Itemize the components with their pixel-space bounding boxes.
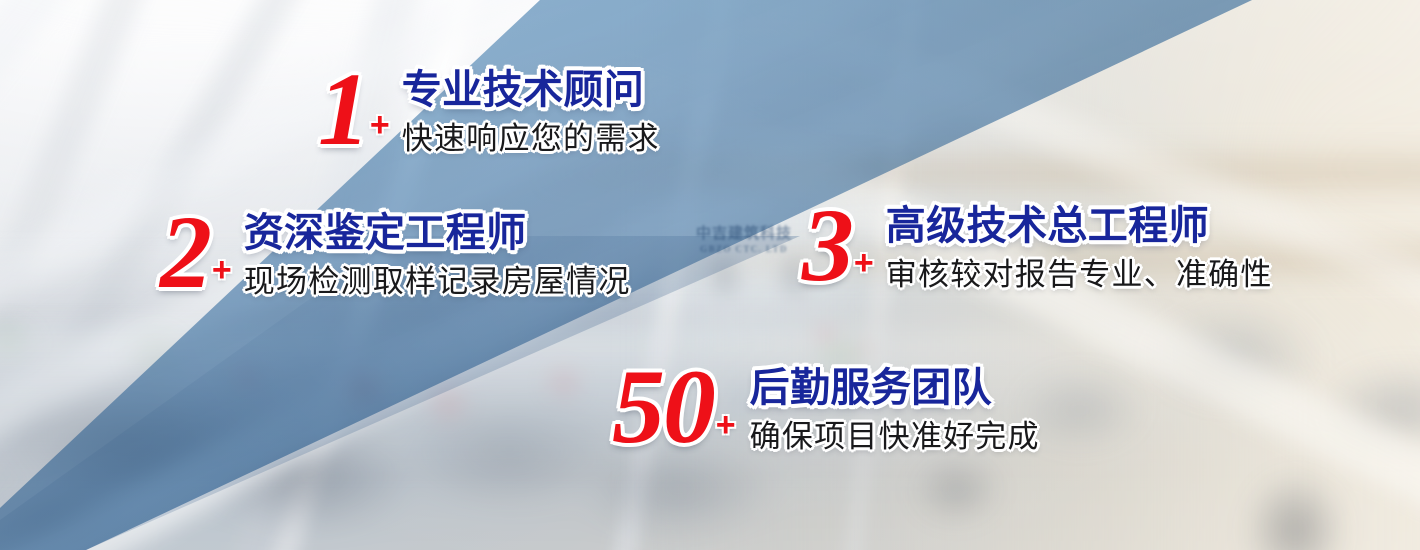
feature-callout-2: 2 + 资深鉴定工程师 现场检测取样记录房屋情况 [160,205,631,301]
feature-1-plus-sign: + [370,108,390,142]
feature-3-number: 3 [802,198,852,294]
feature-50-headline: 后勤服务团队 [750,366,1040,410]
feature-1-headline: 专业技术顾问 [402,68,660,112]
feature-3-subline: 审核较对报告专业、准确性 [886,257,1273,294]
feature-callout-50: 50 + 后勤服务团队 确保项目快准好完成 [612,358,1040,456]
feature-50-plus-sign: + [716,408,736,442]
feature-50-text-group: 后勤服务团队 确保项目快准好完成 [750,358,1040,456]
feature-1-text-group: 专业技术顾问 快速响应您的需求 [402,62,660,158]
feature-callout-3: 3 + 高级技术总工程师 审核较对报告专业、准确性 [802,198,1273,294]
feature-50-number-group: 50 + [612,358,736,456]
promo-banner: 中吉建筑科技 GBZO CTC. LTD 1 + 专业技术顾问 快速响应您的需求… [0,0,1420,550]
feature-3-number-group: 3 + [802,198,874,294]
feature-2-number-group: 2 + [160,205,232,301]
feature-50-subline: 确保项目快准好完成 [750,419,1040,456]
feature-3-headline: 高级技术总工程师 [886,204,1273,248]
feature-1-number-group: 1 + [318,62,390,158]
feature-2-plus-sign: + [212,253,232,287]
feature-3-text-group: 高级技术总工程师 审核较对报告专业、准确性 [886,198,1273,294]
feature-50-number: 50 [612,358,714,456]
feature-2-text-group: 资深鉴定工程师 现场检测取样记录房屋情况 [244,205,631,301]
feature-2-subline: 现场检测取样记录房屋情况 [244,264,631,301]
feature-2-number: 2 [160,205,210,301]
feature-2-headline: 资深鉴定工程师 [244,211,631,255]
feature-callout-1: 1 + 专业技术顾问 快速响应您的需求 [318,62,660,158]
feature-1-number: 1 [318,62,368,158]
feature-callout-group: 1 + 专业技术顾问 快速响应您的需求 2 + 资深鉴定工程师 现场检测取样记录… [0,0,1420,550]
feature-3-plus-sign: + [854,246,874,280]
feature-1-subline: 快速响应您的需求 [402,121,660,158]
